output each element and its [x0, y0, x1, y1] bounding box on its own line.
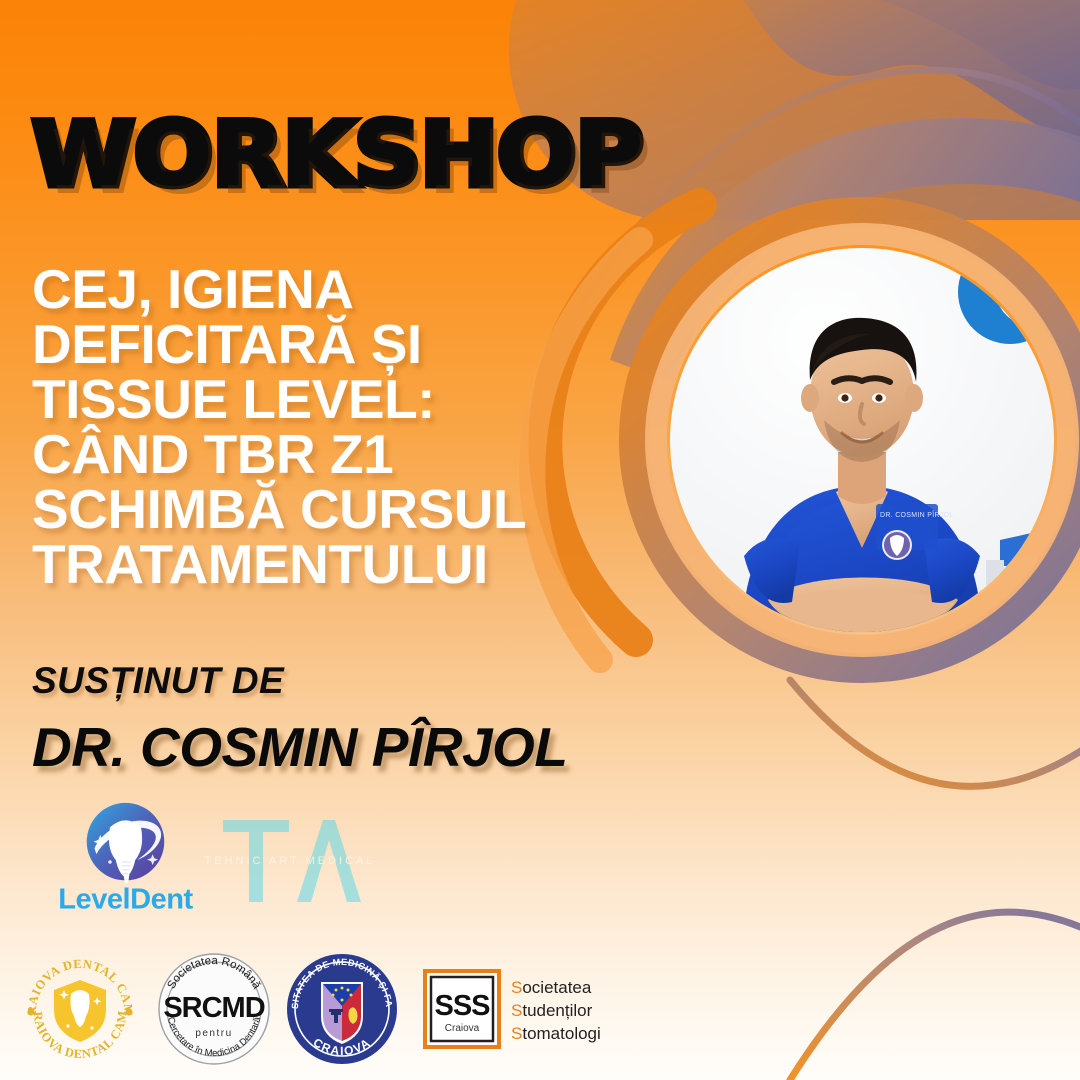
sss-acronym: SSS: [434, 990, 490, 1022]
title-line: TRATAMENTULUI: [32, 537, 632, 592]
partner-logo-srcmd: Societatea Română Cercetare în Medicina …: [155, 950, 273, 1068]
sss-line-1: Societatea: [511, 978, 592, 997]
page-title: CEJ, IGIENA DEFICITARĂ ȘI TISSUE LEVEL: …: [32, 262, 632, 592]
partner-logo-umf-craiova: UNIVERSITATEA DE MEDICINĂ ȘI FARMACIE CR…: [283, 950, 401, 1068]
leveldent-wordmark: LevelDent: [58, 884, 193, 916]
speaker-label: SUSȚINUT DE: [32, 660, 284, 702]
partner-logo-sss-craiova: SSS Craiova Societatea Studenților Stoma…: [423, 963, 603, 1055]
title-line: CEJ, IGIENA: [32, 262, 632, 317]
sss-line-3: Stomatologi: [511, 1024, 601, 1043]
partner-logos-row: CRAIOVA DENTAL CAMP CRAIOVA DENTAL CAMP: [0, 950, 640, 1068]
tehnic-art-medical-logo: TEHNIC ART MEDICAL: [205, 806, 375, 926]
title-line: DEFICITARĂ ȘI: [32, 317, 632, 372]
tam-tagline: TEHNIC ART MEDICAL: [205, 855, 375, 867]
srcmd-middle-text: pentru: [195, 1028, 232, 1039]
speaker-name: DR. COSMIN PÎRJOL: [32, 715, 567, 779]
srcmd-acronym: SRCMD: [163, 992, 264, 1024]
title-line: CÂND TBR Z1: [32, 427, 632, 482]
eyebrow-workshop: WORKSHOP: [32, 113, 643, 197]
sss-sub: Craiova: [445, 1023, 480, 1034]
poster-canvas: DR. COSMIN PÎRJOL WORKSHOP CEJ, IGIENA D…: [0, 0, 1080, 1080]
title-line: TISSUE LEVEL:: [32, 372, 632, 427]
svg-text:DR. COSMIN PÎRJOL: DR. COSMIN PÎRJOL: [880, 510, 954, 519]
leveldent-logo: LevelDent: [48, 800, 203, 921]
sss-line-2: Studenților: [511, 1001, 593, 1020]
partner-logo-craiova-dental-camp: CRAIOVA DENTAL CAMP CRAIOVA DENTAL CAMP: [18, 950, 143, 1068]
title-line: SCHIMBĂ CURSUL: [32, 482, 632, 537]
